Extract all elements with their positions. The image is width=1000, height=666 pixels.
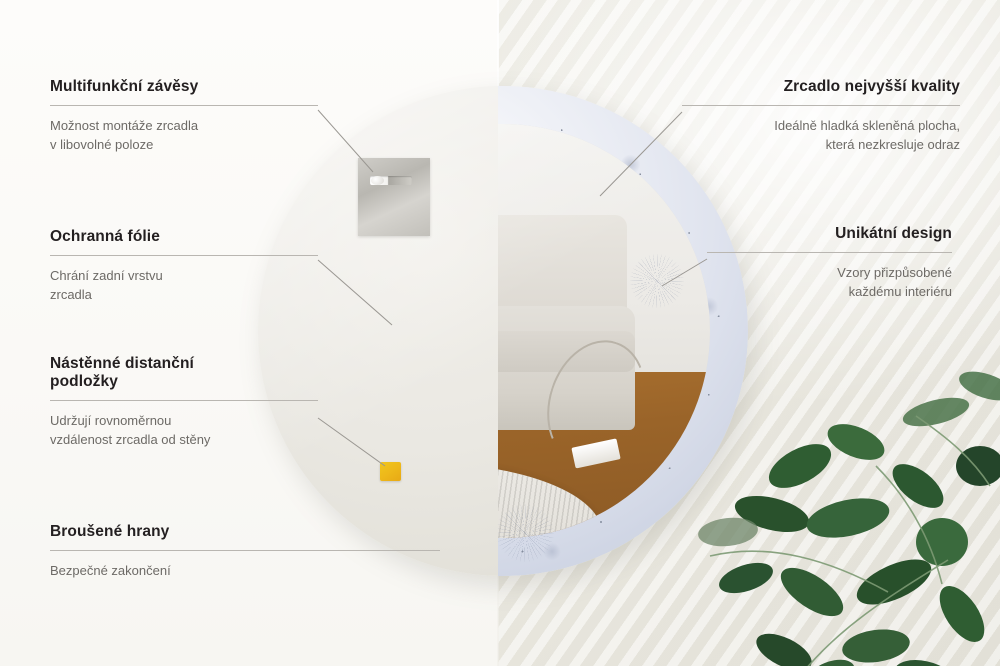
callout-description: Možnost montáže zrcadla v libovolné polo…	[50, 116, 318, 154]
spacer-pad	[380, 462, 401, 481]
callout-zrcadlo-nejvyssi-kvality: Zrcadlo nejvyšší kvality Ideálně hladká …	[682, 78, 960, 154]
callout-unikatni-design: Unikátní design Vzory přizpůsobené každé…	[707, 225, 952, 301]
callout-description: Ideálně hladká skleněná plocha, která ne…	[682, 116, 960, 154]
callout-title: Zrcadlo nejvyšší kvality	[682, 78, 960, 96]
callout-line: Možnost montáže zrcadla	[50, 118, 198, 133]
callout-title: Unikátní design	[707, 225, 952, 243]
callout-line: Udržují rovnoměrnou	[50, 413, 171, 428]
hanger-screw-icon	[371, 176, 384, 185]
callout-rule	[50, 400, 318, 401]
callout-title: Nástěnné distanční podložky	[50, 355, 318, 391]
callout-multifunkcni-zavesy: Multifunkční závěsy Možnost montáže zrca…	[50, 78, 318, 154]
callout-line: Bezpečné zakončení	[50, 563, 171, 578]
callout-title: Broušené hrany	[50, 523, 440, 541]
callout-description: Chrání zadní vrstvu zrcadla	[50, 266, 318, 304]
callout-title: Multifunkční závěsy	[50, 78, 318, 96]
callout-description: Bezpečné zakončení	[50, 561, 440, 580]
infographic-stage: Multifunkční závěsy Možnost montáže zrca…	[0, 0, 1000, 666]
hanger-plate	[358, 158, 430, 236]
callout-line: každému interiéru	[849, 284, 952, 299]
callout-line: zrcadla	[50, 287, 92, 302]
callout-rule	[50, 105, 318, 106]
callout-rule	[682, 105, 960, 106]
callout-line: v libovolné poloze	[50, 137, 153, 152]
callout-description: Udržují rovnoměrnou vzdálenost zrcadla o…	[50, 411, 318, 449]
callout-rule	[707, 252, 952, 253]
callout-description: Vzory přizpůsobené každému interiéru	[707, 263, 952, 301]
callout-rule	[50, 255, 318, 256]
callout-line: Vzory přizpůsobené	[837, 265, 952, 280]
callout-nastenne-distancni-podlozky: Nástěnné distanční podložky Udržují rovn…	[50, 355, 318, 449]
callout-title: Ochranná fólie	[50, 228, 318, 246]
callout-title-line: podložky	[50, 373, 118, 390]
callout-line: vzdálenost zrcadla od stěny	[50, 432, 210, 447]
callout-line: která nezkresluje odraz	[826, 137, 960, 152]
callout-title-line: Nástěnné distanční	[50, 355, 194, 372]
callout-ochranna-folie: Ochranná fólie Chrání zadní vrstvu zrcad…	[50, 228, 318, 304]
callout-line: Chrání zadní vrstvu	[50, 268, 163, 283]
callout-line: Ideálně hladká skleněná plocha,	[774, 118, 960, 133]
mirror-product	[258, 86, 748, 576]
callout-brousene-hrany: Broušené hrany Bezpečné zakončení	[50, 523, 440, 580]
callout-rule	[50, 550, 440, 551]
